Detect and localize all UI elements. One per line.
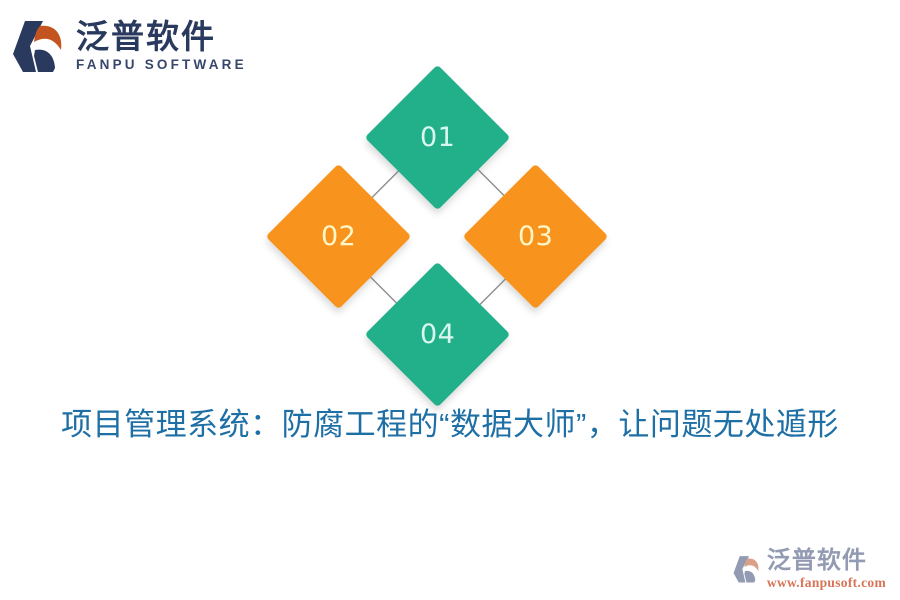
- diamond-cluster-diagram: 01 02 03 04: [287, 86, 591, 390]
- diagram-node-03[interactable]: 03: [463, 163, 609, 309]
- diagram-node-02-label: 02: [321, 222, 356, 249]
- slide-canvas: 泛普软件 FANPU SOFTWARE 01 02 03 04 项目管理系统：防…: [0, 0, 900, 600]
- page-title: 项目管理系统：防腐工程的“数据大师”，让问题无处遁形: [0, 404, 900, 446]
- brand-name-en: FANPU SOFTWARE: [76, 55, 247, 75]
- diagram-node-01-label: 01: [419, 124, 454, 151]
- brand-name-cn: 泛普软件: [76, 19, 247, 55]
- diagram-node-04-label: 04: [419, 321, 454, 348]
- watermark-name: 泛普软件: [767, 547, 886, 575]
- diagram-node-04[interactable]: 04: [364, 262, 510, 408]
- fanpu-watermark-logo-icon: [732, 553, 762, 585]
- diagram-node-01[interactable]: 01: [364, 65, 510, 211]
- diagram-node-02[interactable]: 02: [266, 163, 412, 309]
- watermark-text: 泛普软件 www.fanpusoft.com: [767, 547, 886, 592]
- watermark-url: www.fanpusoft.com: [767, 574, 886, 592]
- diagram-node-03-label: 03: [518, 222, 553, 249]
- brand-text: 泛普软件 FANPU SOFTWARE: [76, 17, 247, 75]
- fanpu-hexagon-logo-icon: [10, 16, 68, 76]
- watermark: 泛普软件 www.fanpusoft.com: [732, 547, 886, 592]
- brand-logo: 泛普软件 FANPU SOFTWARE: [10, 16, 247, 76]
